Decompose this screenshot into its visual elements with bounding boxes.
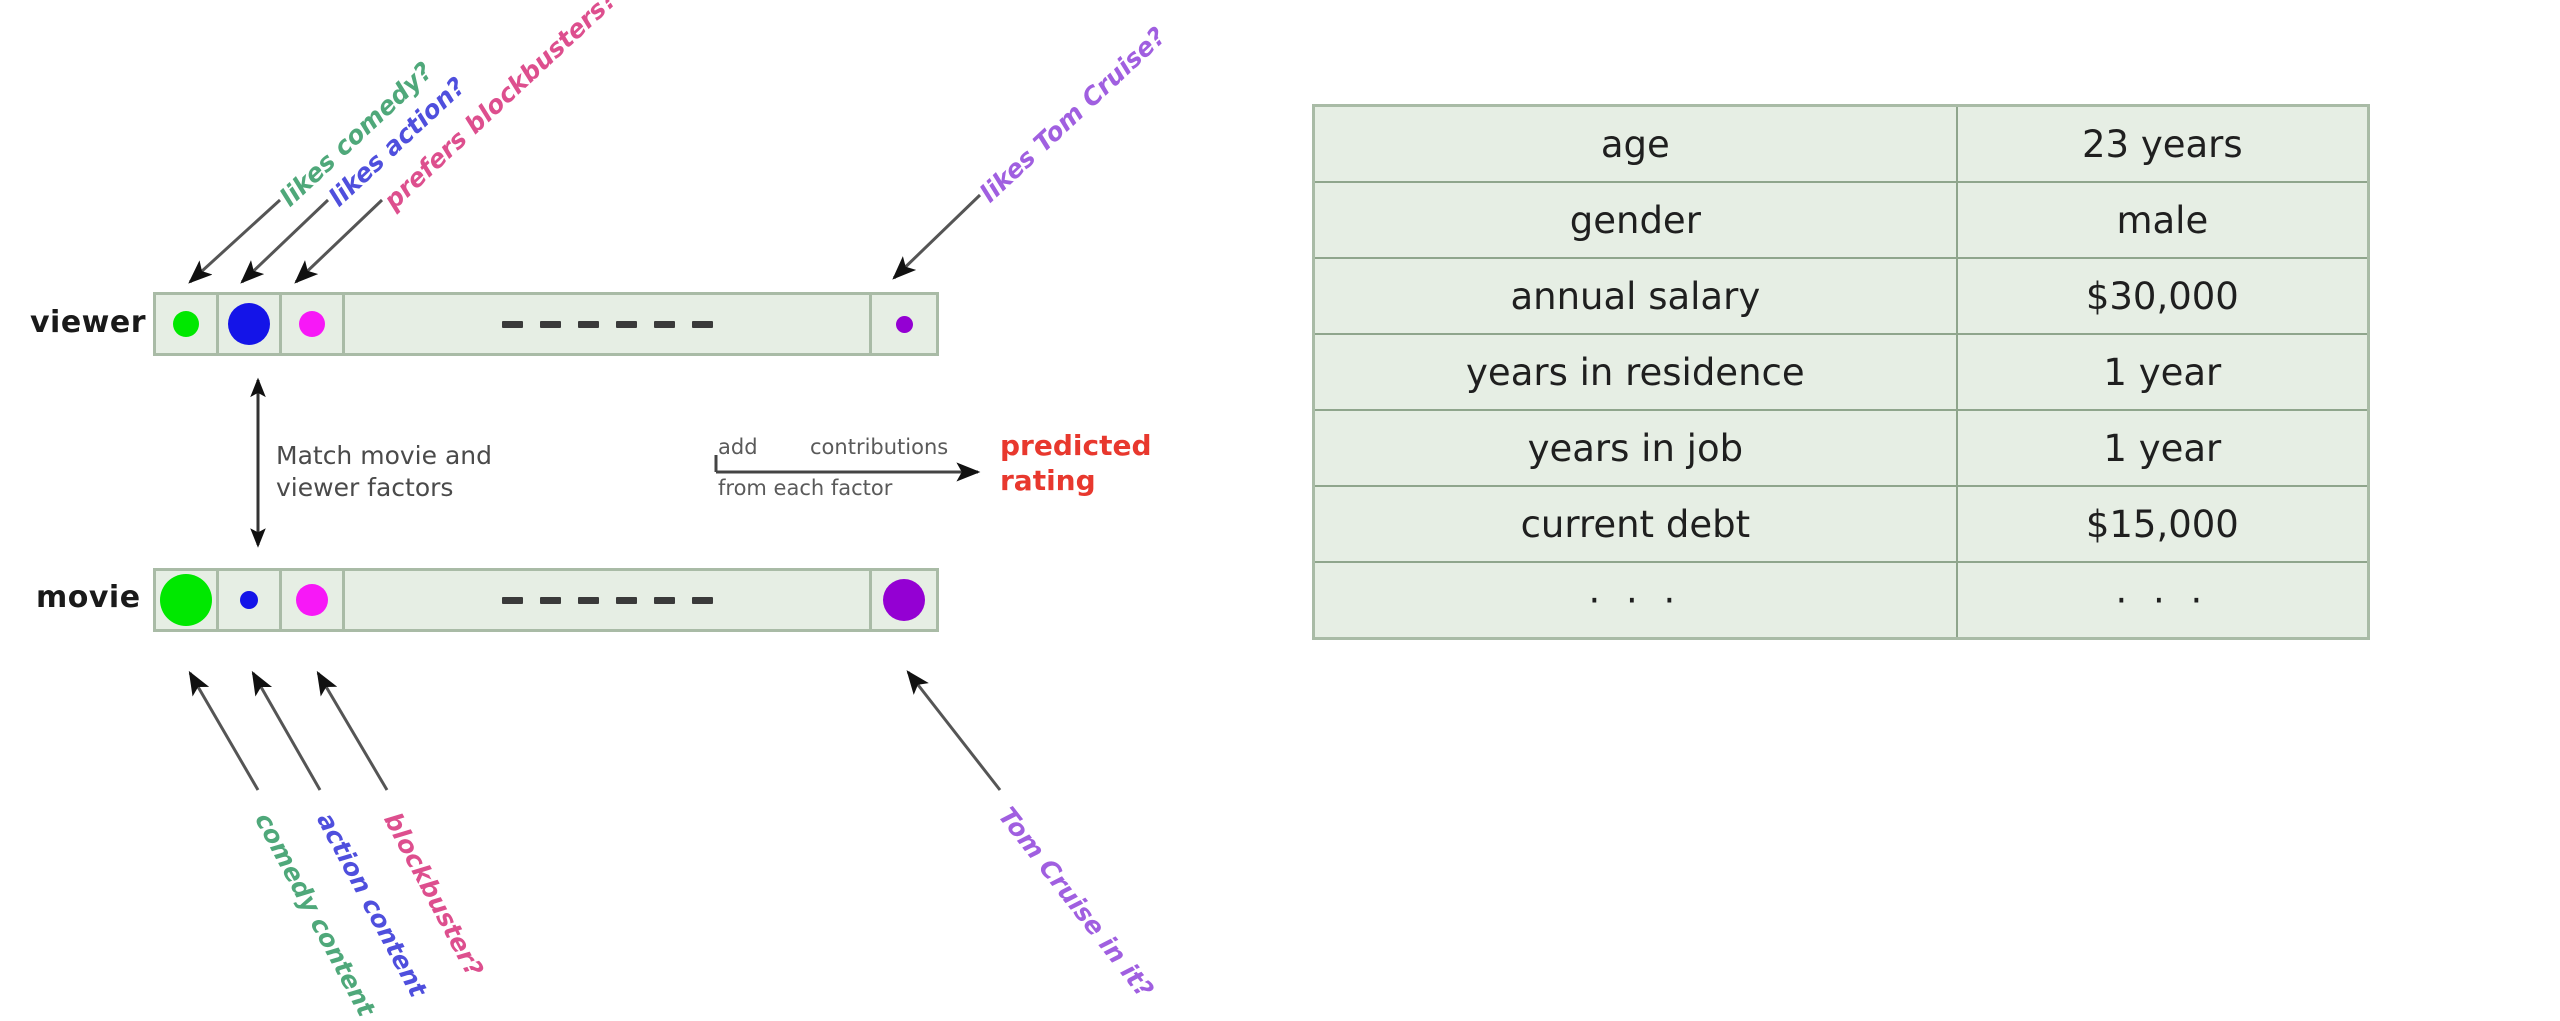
attr-value: male bbox=[1957, 182, 2369, 258]
predicted-rating-line1: predicted bbox=[1000, 430, 1152, 462]
contributions-note-contributions: contributions bbox=[810, 435, 948, 459]
attr-key-ellipsis: · · · bbox=[1314, 562, 1957, 639]
table-row: annual salary $30,000 bbox=[1314, 258, 2369, 334]
movie-dot-action bbox=[240, 591, 258, 609]
attr-value: 23 years bbox=[1957, 106, 2369, 183]
attr-value: $30,000 bbox=[1957, 258, 2369, 334]
viewer-cell-comedy[interactable] bbox=[156, 295, 219, 353]
movie-row-label: movie bbox=[36, 580, 141, 615]
attr-key: current debt bbox=[1314, 486, 1957, 562]
attr-key: gender bbox=[1314, 182, 1957, 258]
movie-cell-action[interactable] bbox=[219, 571, 282, 629]
movie-dot-comedy bbox=[160, 574, 212, 626]
movie-factor-vector[interactable] bbox=[153, 568, 939, 632]
viewer-annotation-arrows bbox=[190, 195, 980, 282]
arrow-overlay bbox=[0, 0, 1290, 947]
viewer-dot-comedy bbox=[173, 311, 199, 337]
attr-value-ellipsis: · · · bbox=[1957, 562, 2369, 639]
annotation-tom-cruise-in-it: Tom Cruise in it? bbox=[993, 802, 1160, 1004]
viewer-cell-tom-cruise[interactable] bbox=[872, 295, 936, 353]
viewer-ellipsis-dashes bbox=[502, 321, 713, 328]
attr-value: 1 year bbox=[1957, 410, 2369, 486]
viewer-dot-action bbox=[228, 303, 270, 345]
factor-vector-diagram: viewer likes comedy? likes action? prefe… bbox=[0, 0, 1290, 947]
contributions-note-add: add bbox=[718, 435, 758, 459]
attr-table-body: age 23 years gender male annual salary $… bbox=[1314, 106, 2369, 639]
attr-value: $15,000 bbox=[1957, 486, 2369, 562]
predicted-rating-line2: rating bbox=[1000, 465, 1096, 497]
movie-cell-tom-cruise[interactable] bbox=[872, 571, 936, 629]
table-row: age 23 years bbox=[1314, 106, 2369, 183]
movie-dot-tom-cruise bbox=[883, 579, 925, 621]
viewer-cell-ellipsis bbox=[345, 295, 872, 353]
viewer-row-label: viewer bbox=[30, 305, 146, 340]
viewer-cell-blockbuster[interactable] bbox=[282, 295, 345, 353]
attr-key: annual salary bbox=[1314, 258, 1957, 334]
movie-cell-comedy[interactable] bbox=[156, 571, 219, 629]
movie-annotation-arrows bbox=[190, 672, 1000, 790]
table-row: gender male bbox=[1314, 182, 2369, 258]
movie-dot-blockbuster bbox=[296, 584, 328, 616]
table-row: years in job 1 year bbox=[1314, 410, 2369, 486]
table-row: years in residence 1 year bbox=[1314, 334, 2369, 410]
table-row-ellipsis: · · · · · · bbox=[1314, 562, 2369, 639]
attr-key: years in residence bbox=[1314, 334, 1957, 410]
attr-key: age bbox=[1314, 106, 1957, 183]
viewer-factor-vector[interactable] bbox=[153, 292, 939, 356]
annotation-likes-tom-cruise: likes Tom Cruise? bbox=[974, 21, 1171, 208]
viewer-cell-action[interactable] bbox=[219, 295, 282, 353]
match-factors-note-line2: viewer factors bbox=[276, 472, 453, 505]
attr-value: 1 year bbox=[1957, 334, 2369, 410]
movie-cell-blockbuster[interactable] bbox=[282, 571, 345, 629]
movie-cell-ellipsis bbox=[345, 571, 872, 629]
movie-ellipsis-dashes bbox=[502, 597, 713, 604]
attr-key: years in job bbox=[1314, 410, 1957, 486]
table-row: current debt $15,000 bbox=[1314, 486, 2369, 562]
viewer-dot-blockbuster bbox=[299, 311, 325, 337]
match-factors-note-line1: Match movie and bbox=[276, 440, 492, 473]
contributions-note-from-each-factor: from each factor bbox=[718, 476, 892, 500]
viewer-dot-tom-cruise bbox=[896, 316, 913, 333]
user-attributes-table: age 23 years gender male annual salary $… bbox=[1312, 104, 2370, 640]
